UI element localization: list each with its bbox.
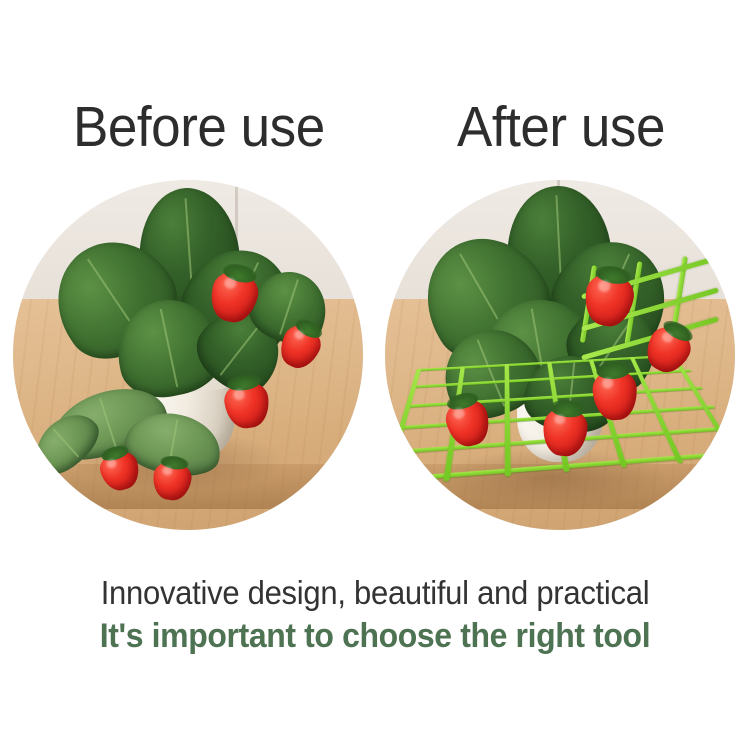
caption-line-2: It's important to choose the right tool: [23, 614, 728, 658]
infographic-page: Before use After use: [0, 0, 750, 750]
comparison-photos: [0, 180, 750, 532]
heading-row: Before use After use: [0, 96, 750, 160]
heading-after-use: After use: [457, 96, 665, 158]
scene-before: [13, 180, 363, 530]
scene-after: [385, 180, 735, 530]
caption-block: Innovative design, beautiful and practic…: [0, 572, 750, 658]
heading-before-use: Before use: [73, 96, 325, 158]
photo-before-use: [13, 180, 363, 530]
caption-line-1: Innovative design, beautiful and practic…: [23, 572, 728, 614]
photo-after-use: [385, 180, 735, 530]
